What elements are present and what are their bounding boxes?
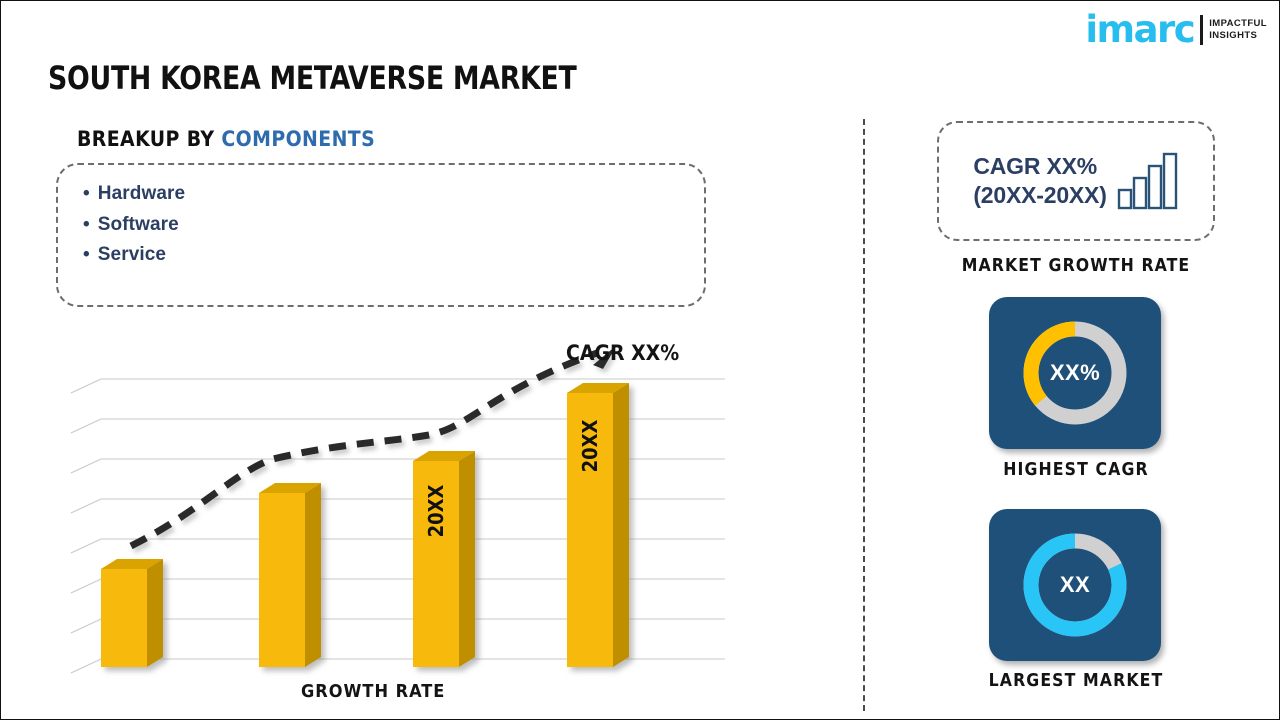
list-item: Hardware <box>83 179 704 210</box>
section-divider <box>863 119 865 711</box>
highest-cagr-donut: XX% <box>1015 313 1135 433</box>
highest-cagr-card: XX% <box>989 297 1161 449</box>
cagr-period: (20XX-20XX) <box>973 181 1106 210</box>
chart-bar-label-4: 20XX <box>578 419 602 472</box>
chart-bar-2 <box>259 483 321 667</box>
chart-x-axis-label: GROWTH RATE <box>301 681 445 702</box>
chart-cagr-annotation: CAGR XX% <box>566 341 679 365</box>
market-growth-rate-text: CAGR XX% (20XX-20XX) <box>973 152 1106 211</box>
breakup-heading-accent: COMPONENTS <box>221 127 375 151</box>
largest-market-caption: LARGEST MARKET <box>937 671 1215 691</box>
chart-bar-3 <box>413 451 475 667</box>
logo-wordmark: imarc <box>1085 11 1194 48</box>
largest-market-card: XX <box>989 509 1161 661</box>
bar-chart-icon <box>1117 152 1179 210</box>
logo-tagline: IMPACTFUL INSIGHTS <box>1209 18 1267 42</box>
list-item: Service <box>83 240 704 271</box>
imarc-logo: imarc IMPACTFUL INSIGHTS <box>1085 11 1267 48</box>
breakup-heading-prefix: BREAKUP BY <box>77 127 221 151</box>
chart-trendline <box>131 345 617 546</box>
growth-bar-chart: 20XX 20XX <box>51 331 751 711</box>
components-list: Hardware Software Service <box>58 165 704 271</box>
largest-market-donut: XX <box>1015 525 1135 645</box>
infographic-page: imarc IMPACTFUL INSIGHTS SOUTH KOREA MET… <box>0 0 1280 720</box>
logo-tagline-line1: IMPACTFUL <box>1209 18 1267 30</box>
cagr-value: CAGR XX% <box>973 152 1106 181</box>
logo-tagline-line2: INSIGHTS <box>1209 30 1267 42</box>
list-item: Software <box>83 210 704 241</box>
largest-market-value: XX <box>1015 525 1135 645</box>
market-growth-rate-caption: MARKET GROWTH RATE <box>937 256 1215 276</box>
highest-cagr-caption: HIGHEST CAGR <box>937 460 1215 480</box>
highest-cagr-value: XX% <box>1015 313 1135 433</box>
market-growth-rate-box: CAGR XX% (20XX-20XX) <box>937 121 1215 241</box>
page-title: SOUTH KOREA METAVERSE MARKET <box>48 59 577 97</box>
chart-bar-label-3: 20XX <box>424 484 448 537</box>
chart-svg: 20XX 20XX <box>51 331 751 711</box>
breakup-heading: BREAKUP BY COMPONENTS <box>77 127 375 151</box>
components-box: Hardware Software Service <box>56 163 706 307</box>
logo-divider <box>1200 15 1203 45</box>
chart-bar-1 <box>101 559 163 667</box>
